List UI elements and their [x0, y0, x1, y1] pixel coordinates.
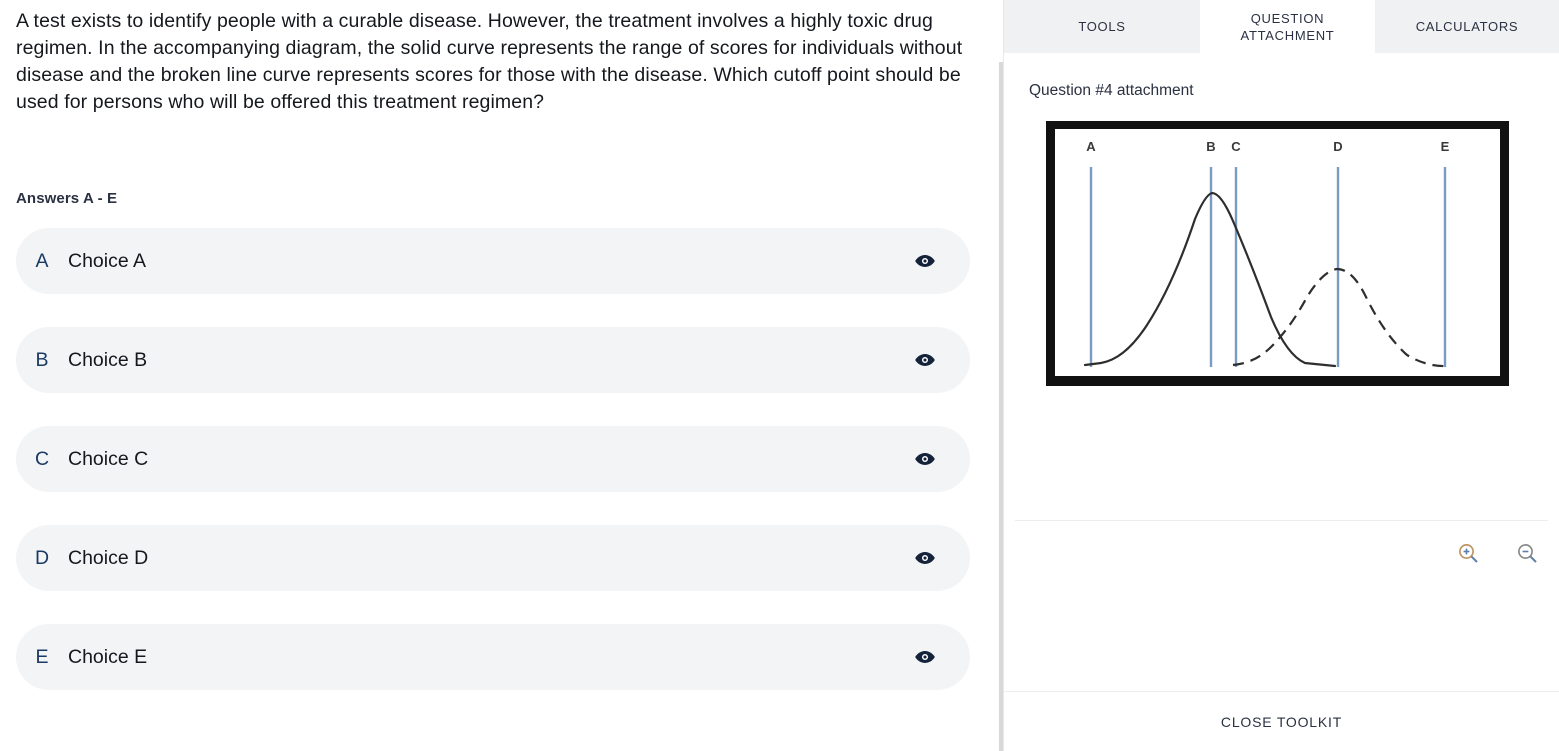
cutoff-label-b: B [1206, 139, 1215, 154]
toolkit-footer: CLOSE TOOLKIT [1004, 691, 1559, 751]
toolkit-tabs: TOOLS QUESTION ATTACHMENT CALCULATORS [1004, 0, 1559, 53]
attachment-title: Question #4 attachment [1029, 82, 1559, 100]
close-toolkit-button[interactable]: CLOSE TOOLKIT [1221, 714, 1342, 730]
cutoff-label-d: D [1333, 139, 1342, 154]
tab-tools[interactable]: TOOLS [1004, 0, 1200, 53]
answer-choice-d[interactable]: D Choice D [16, 525, 970, 591]
choice-letter: B [16, 349, 68, 372]
zoom-controls [1454, 539, 1541, 567]
toolkit-pane: TOOLS QUESTION ATTACHMENT CALCULATORS Qu… [1003, 0, 1559, 751]
eye-icon[interactable] [913, 249, 937, 273]
zoom-in-icon[interactable] [1454, 539, 1482, 567]
choice-text: Choice E [68, 646, 147, 669]
answer-choice-list: A Choice A B Choice B [0, 228, 1003, 690]
eye-icon[interactable] [913, 348, 937, 372]
question-stem: A test exists to identify people with a … [0, 0, 990, 116]
answer-choice-a[interactable]: A Choice A [16, 228, 970, 294]
choice-letter: C [16, 448, 68, 471]
cutoff-label-e: E [1441, 139, 1450, 154]
diagram-frame: A B C D E [1046, 121, 1509, 386]
eye-icon[interactable] [913, 546, 937, 570]
diagram-canvas: A B C D E [1055, 129, 1500, 376]
answers-section-label: Answers A - E [16, 190, 1003, 207]
attachment-image-container[interactable]: A B C D E [1046, 121, 1509, 386]
answer-choice-b[interactable]: B Choice B [16, 327, 970, 393]
tab-label-line2: ATTACHMENT [1241, 28, 1335, 43]
tab-calculators[interactable]: CALCULATORS [1375, 0, 1559, 53]
tab-label-line1: QUESTION [1251, 11, 1325, 26]
answer-choice-c[interactable]: C Choice C [16, 426, 970, 492]
question-toolkit-app: A test exists to identify people with a … [0, 0, 1559, 751]
zoom-out-icon[interactable] [1513, 539, 1541, 567]
distribution-diagram: A B C D E [1055, 129, 1500, 376]
question-pane: A test exists to identify people with a … [0, 0, 1003, 751]
choice-text: Choice D [68, 547, 148, 570]
tab-question-attachment[interactable]: QUESTION ATTACHMENT [1200, 0, 1375, 53]
attachment-body: Question #4 attachment A [1004, 53, 1559, 691]
eye-icon[interactable] [913, 447, 937, 471]
zoom-controls-divider [1015, 520, 1548, 521]
choice-letter: E [16, 646, 68, 669]
cutoff-label-a: A [1086, 139, 1096, 154]
answer-choice-e[interactable]: E Choice E [16, 624, 970, 690]
cutoff-label-c: C [1231, 139, 1241, 154]
choice-letter: D [16, 547, 68, 570]
curve-with-disease [1233, 269, 1447, 366]
choice-text: Choice A [68, 250, 146, 273]
eye-icon[interactable] [913, 645, 937, 669]
choice-text: Choice B [68, 349, 147, 372]
choice-letter: A [16, 250, 68, 273]
choice-text: Choice C [68, 448, 148, 471]
